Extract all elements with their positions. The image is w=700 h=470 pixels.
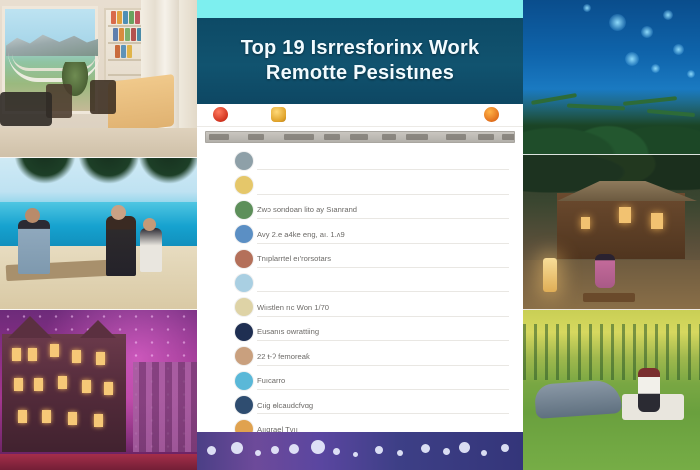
floor <box>0 128 197 158</box>
green-lawn-with-lounger <box>523 310 700 470</box>
beach-with-people-at-table <box>0 158 197 310</box>
avatar <box>235 274 253 292</box>
person-man <box>18 220 50 274</box>
avatar <box>235 323 253 341</box>
blue-sky-tropical-canopy-bokeh <box>523 0 700 155</box>
list-item-label: Eusanıs owrattiing <box>257 327 319 336</box>
page-title-line-1: Top 19 Isrresf‌orinx Work <box>241 36 480 61</box>
person-child <box>140 228 162 272</box>
orange-round-icon[interactable] <box>484 107 499 122</box>
menu-item <box>284 134 314 140</box>
menu-item <box>350 134 368 140</box>
avatar <box>235 176 253 194</box>
list-item-label: Avy 2.e a4ke enɡ, aı. 1.ʌ9 <box>257 230 345 239</box>
list-item-label: Zwɔ sorɩdoan lito ay Sıanrand <box>257 205 357 214</box>
list-item[interactable] <box>197 173 523 197</box>
victorian-mansion-purple-lights <box>0 310 197 470</box>
page-title-line-2: Remotte Pesistınes <box>241 61 480 86</box>
menu-item <box>382 134 396 140</box>
palm-frond <box>10 158 80 188</box>
menu-item <box>248 134 264 140</box>
desk <box>108 74 174 134</box>
results-list: Zwɔ sorɩdoan lito ay Sıanrand Avy 2.e a4… <box>197 149 523 466</box>
palm-frond <box>134 158 197 188</box>
menu-item <box>478 134 494 140</box>
left-collage-column <box>0 0 197 470</box>
list-item[interactable]: Eusanıs owrattiing <box>197 320 523 344</box>
lantern <box>543 258 557 292</box>
tree-line <box>523 324 700 380</box>
list-item[interactable]: Cıig ɵlcaudcfvɑg <box>197 393 523 417</box>
list-item-label: Tnıplarrtel eı'rorsotars <box>257 254 331 263</box>
tree-canopy <box>523 89 700 155</box>
wooden-bungalow-at-dusk <box>523 155 700 310</box>
menu-item <box>406 134 428 140</box>
list-item-label: Fuıcarro <box>257 376 285 385</box>
top-accent-strip <box>197 0 523 18</box>
person-reclining <box>638 368 660 412</box>
colonnade <box>133 362 197 452</box>
avatar <box>235 347 253 365</box>
list-item[interactable] <box>197 149 523 173</box>
avatar <box>235 152 253 170</box>
avatar <box>235 396 253 414</box>
collage-stage: Top 19 Isrresf‌orinx Work Remotte Pesist… <box>0 0 700 470</box>
list-item[interactable]: Fuıcarro <box>197 369 523 393</box>
app-header: Top 19 Isrresf‌orinx Work Remotte Pesist… <box>197 18 523 104</box>
list-item[interactable]: Avy 2.e a4ke enɡ, aı. 1.ʌ9 <box>197 222 523 246</box>
list-item[interactable]: Wiıstlen rıc Won 1/70 <box>197 295 523 319</box>
toolbar <box>197 104 523 127</box>
dining-chair <box>90 80 116 114</box>
avatar <box>235 372 253 390</box>
list-item[interactable]: Tnıplarrtel eı'rorsotars <box>197 247 523 271</box>
list-item-label: 22 ŧ-ʔ femoreaƙ <box>257 352 310 361</box>
page-title: Top 19 Isrresf‌orinx Work Remotte Pesist… <box>227 36 494 86</box>
avatar <box>235 225 253 243</box>
person-woman <box>106 216 136 276</box>
right-collage-column <box>523 0 700 470</box>
avatar <box>235 201 253 219</box>
mansion-building <box>2 334 126 452</box>
list-item[interactable] <box>197 271 523 295</box>
list-item-label: Wiıstlen rıc Won 1/70 <box>257 303 329 312</box>
list-item[interactable]: 22 ŧ-ʔ femoreaƙ <box>197 344 523 368</box>
bench <box>583 293 635 302</box>
cabin-body <box>557 193 685 259</box>
interior-living-room-with-window-view <box>0 0 197 158</box>
yellow-badge-icon[interactable] <box>271 107 286 122</box>
lounger <box>534 379 622 419</box>
list-item[interactable]: Zwɔ sorɩdoan lito ay Sıanrand <box>197 198 523 222</box>
menu-item <box>446 134 466 140</box>
bottom-accent-strip <box>197 432 523 470</box>
app-panel: Top 19 Isrresf‌orinx Work Remotte Pesist… <box>197 0 523 470</box>
avatar <box>235 250 253 268</box>
dark-table <box>0 92 52 126</box>
menu-bar[interactable] <box>205 131 515 143</box>
menu-item <box>502 134 515 140</box>
red-round-icon[interactable] <box>213 107 228 122</box>
menu-item <box>324 134 340 140</box>
list-item-label: Cıig ɵlcaudcfvɑg <box>257 401 313 410</box>
menu-item <box>209 134 229 140</box>
avatar <box>235 298 253 316</box>
red-carpet-ground <box>0 454 197 470</box>
person-seated <box>595 254 615 288</box>
